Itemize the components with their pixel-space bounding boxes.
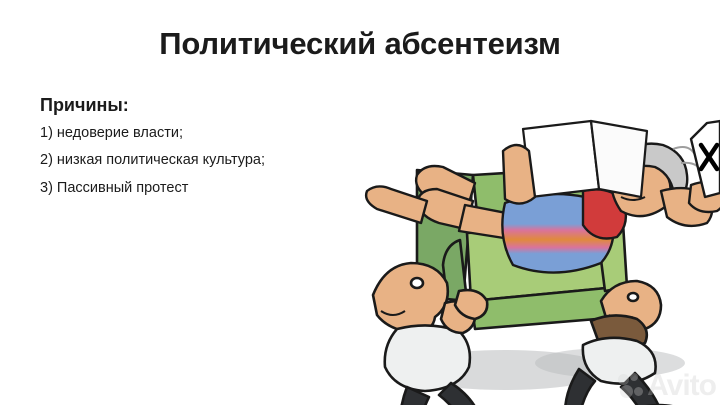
cause-item-3: 3) Пассивный протест [40, 181, 370, 196]
hand-left-upper [503, 145, 535, 204]
cause-item-2: 2) низкая политическая культура; [40, 153, 370, 168]
newspaper-group [523, 121, 647, 197]
cartoon-illustration-svg [355, 105, 720, 405]
eye-left-carrier [411, 278, 423, 288]
cause-item-1: 1) недоверие власти; [40, 126, 370, 141]
hand-holding-newspaper [503, 145, 535, 204]
head-left-carrier [373, 263, 448, 333]
cartoon-illustration [355, 105, 720, 405]
presentation-slide: Политический абсентеизм Причины: 1) недо… [0, 0, 720, 405]
shirt-left-carrier [385, 325, 470, 391]
causes-heading: Причины: [40, 96, 370, 116]
causes-text-block: Причины: 1) недоверие власти; 2) низкая … [40, 96, 370, 208]
shirt-right-carrier [583, 338, 656, 384]
eye-right-carrier [628, 293, 638, 301]
page-title: Политический абсентеизм [0, 26, 720, 62]
